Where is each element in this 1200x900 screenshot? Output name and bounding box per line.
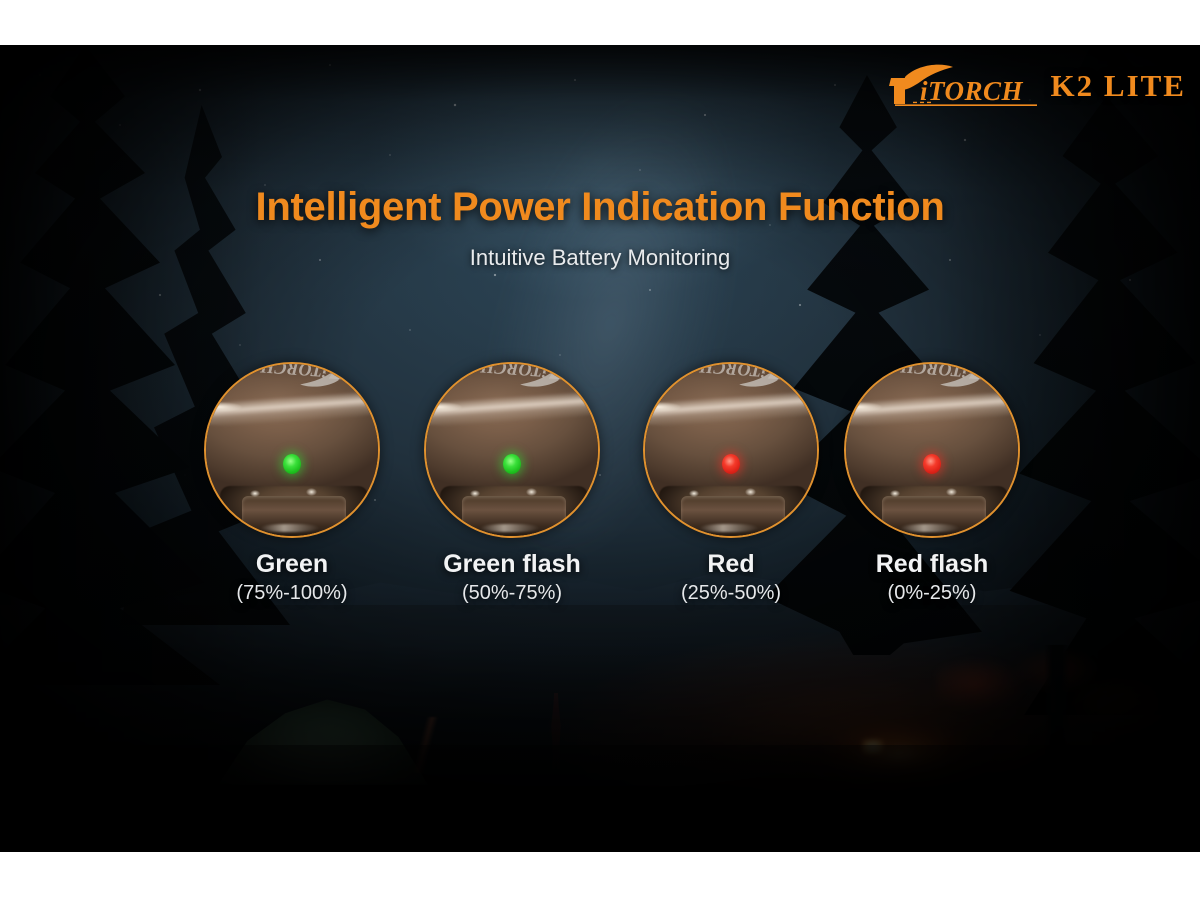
tailcap-specular-highlight bbox=[699, 524, 759, 532]
brand-lockup: iTORCH K2 LITE bbox=[887, 64, 1186, 106]
svg-text:iTORCH: iTORCH bbox=[920, 76, 1024, 106]
led-indicator-green bbox=[283, 454, 301, 474]
product-model-name: K2 LITE bbox=[1051, 70, 1186, 101]
tailcap-specular-highlight bbox=[946, 488, 957, 496]
tailcap-photo-green-flash: iTORCH bbox=[424, 362, 600, 538]
flashlight-tailcap-image: iTORCH bbox=[643, 362, 819, 538]
indicator-range: (25%-50%) bbox=[636, 582, 826, 605]
tailcap-specular-highlight bbox=[745, 488, 756, 496]
indicator-card-red: iTORCH Red (25%-50%) bbox=[636, 362, 826, 605]
led-indicator-red bbox=[722, 454, 740, 474]
tailcap-specular-highlight bbox=[250, 490, 260, 497]
svg-text:iTORCH: iTORCH bbox=[479, 362, 548, 381]
fitorch-flame-logo-icon: iTORCH bbox=[887, 64, 1039, 106]
indicator-range: (0%-25%) bbox=[837, 582, 1027, 605]
flashlight-tailcap-image: iTORCH bbox=[424, 362, 600, 538]
indicator-label: Green flash bbox=[417, 550, 607, 579]
page-subtitle: Intuitive Battery Monitoring bbox=[0, 245, 1200, 271]
svg-text:iTORCH: iTORCH bbox=[698, 362, 767, 381]
indicator-label: Green bbox=[197, 550, 387, 579]
tailcap-specular-highlight bbox=[890, 490, 900, 497]
indicator-card-red-flash: iTORCH Red flash (0%-25%) bbox=[837, 362, 1027, 605]
indicator-range: (50%-75%) bbox=[417, 582, 607, 605]
led-indicator-green-flash bbox=[503, 454, 521, 474]
tailcap-specular-highlight bbox=[470, 490, 480, 497]
indicator-range: (75%-100%) bbox=[197, 582, 387, 605]
foreground-shadow bbox=[0, 745, 1200, 852]
power-indicator-list: iTORCH Green (75%-100%) bbox=[0, 362, 1200, 642]
tailcap-specular-highlight bbox=[689, 490, 699, 497]
led-indicator-red-flash bbox=[923, 454, 941, 474]
slide-canvas: iTORCH K2 LITE Intelligent Power Indicat… bbox=[0, 0, 1200, 900]
tailcap-specular-highlight bbox=[260, 524, 320, 532]
tailcap-specular-highlight bbox=[526, 488, 537, 496]
flashlight-tailcap-image: iTORCH bbox=[204, 362, 380, 538]
svg-text:iTORCH: iTORCH bbox=[899, 362, 968, 381]
tailcap-photo-red-flash: iTORCH bbox=[844, 362, 1020, 538]
tailcap-specular-highlight bbox=[480, 524, 540, 532]
indicator-label: Red flash bbox=[837, 550, 1027, 579]
svg-text:iTORCH: iTORCH bbox=[259, 362, 328, 381]
tailcap-photo-green: iTORCH bbox=[204, 362, 380, 538]
indicator-label: Red bbox=[636, 550, 826, 579]
indicator-card-green-flash: iTORCH Green flash (50%-75%) bbox=[417, 362, 607, 605]
page-title: Intelligent Power Indication Function bbox=[0, 185, 1200, 230]
tailcap-specular-highlight bbox=[900, 524, 960, 532]
tailcap-specular-highlight bbox=[306, 488, 317, 496]
heading-block: Intelligent Power Indication Function In… bbox=[0, 185, 1200, 271]
indicator-card-green: iTORCH Green (75%-100%) bbox=[197, 362, 387, 605]
tailcap-photo-red: iTORCH bbox=[643, 362, 819, 538]
flashlight-tailcap-image: iTORCH bbox=[844, 362, 1020, 538]
